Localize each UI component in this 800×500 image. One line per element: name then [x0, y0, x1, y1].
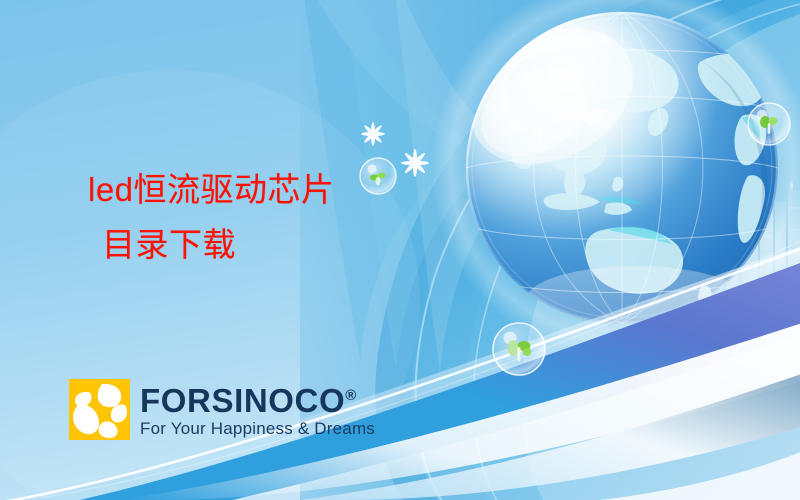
brand-tagline: For Your Happiness & Dreams: [140, 420, 375, 439]
brand-name: FORSINOCO®: [140, 384, 375, 417]
headline-text: led恒流驱动芯片 目录下载: [88, 163, 335, 273]
brand-wordmark-group: FORSINOCO® For Your Happiness & Dreams: [140, 379, 375, 439]
registered-trademark-icon: ®: [345, 387, 356, 404]
headline-line-2: 目录下载: [88, 218, 335, 273]
four-petal-pinwheel-icon: [69, 379, 130, 440]
headline-line-1: led恒流驱动芯片: [88, 171, 335, 208]
brand-name-text: FORSINOCO: [140, 382, 345, 419]
brand-logo: FORSINOCO® For Your Happiness & Dreams: [69, 379, 375, 440]
promotional-banner: led恒流驱动芯片 目录下载: [0, 0, 800, 500]
